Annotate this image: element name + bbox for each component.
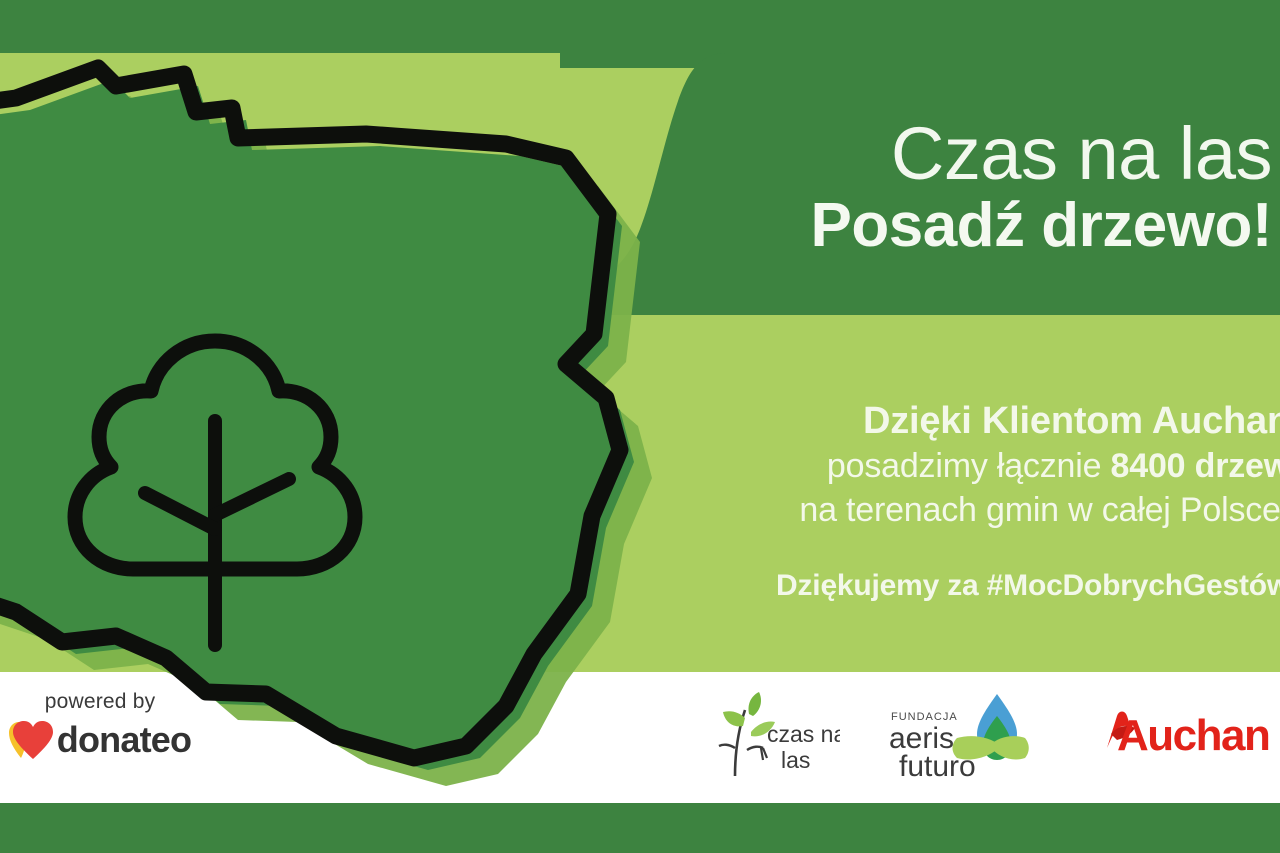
headline: Czas na las Posadź drzewo! <box>640 118 1272 261</box>
bottom-green-band <box>0 803 1280 853</box>
body-line-2-prefix: posadzimy łącznie <box>827 447 1111 485</box>
powered-by-label: powered by <box>0 690 200 714</box>
banner-canvas: Czas na las Posadź drzewo! Dzięki Klient… <box>0 0 1280 853</box>
top-green-band <box>0 0 1280 53</box>
body-line-3: na terenach gmin w całej Polsce. <box>600 489 1280 533</box>
auchan-wordmark: Auchan <box>1117 714 1269 758</box>
heart-icon <box>9 720 55 760</box>
donateo-mark: donateo <box>0 720 200 760</box>
donateo-logo[interactable]: powered by donateo <box>0 690 200 760</box>
auchan-logo[interactable]: Auchan <box>1095 712 1265 764</box>
czas-na-las-line-2: las <box>781 747 810 773</box>
hashtag-line: Dziękujemy za #MocDobrychGestów <box>600 568 1280 604</box>
headline-line-2: Posadź drzewo! <box>640 191 1272 262</box>
body-line-2: posadzimy łącznie 8400 drzew <box>600 445 1280 489</box>
poland-map <box>0 58 700 778</box>
body-copy: Dzięki Klientom Auchan posadzimy łącznie… <box>600 398 1280 604</box>
trees-count-highlight: 8400 drzew <box>1111 447 1280 485</box>
donateo-wordmark: donateo <box>57 722 191 758</box>
czas-na-las-line-1: czas na <box>767 721 840 747</box>
body-line-1: Dzięki Klientom Auchan <box>600 398 1280 445</box>
headline-line-1: Czas na las <box>640 118 1272 191</box>
aeris-futuro-line-2: futuro <box>899 750 976 783</box>
czas-na-las-logo[interactable]: czas na las <box>705 688 840 783</box>
aeris-futuro-logo[interactable]: FUNDACJA aeris futuro <box>885 690 1030 785</box>
